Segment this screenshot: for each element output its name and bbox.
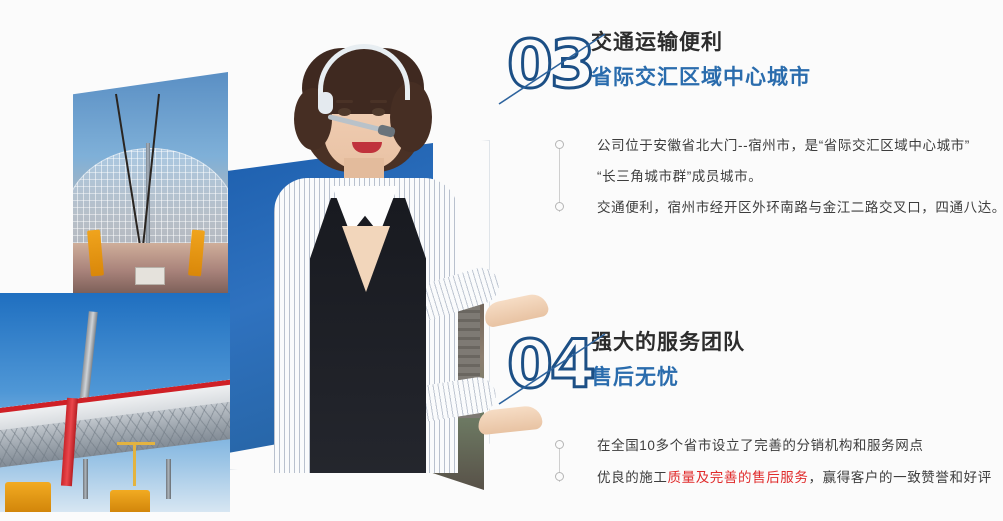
- headset-earpiece-icon: [318, 92, 333, 114]
- bullet-text-line2: “长三角城市群”成员城市。: [587, 161, 1003, 192]
- image-collage: [0, 0, 500, 521]
- feature-block-04: 04 强大的服务团队 售后无忧 在全国10多个省市设立了完善的分销机构和服务网点: [505, 326, 1003, 494]
- eye: [338, 108, 351, 116]
- feature-number-wrap-03: 03: [505, 26, 591, 112]
- bullet-text-highlight: 质量及完善的售后服务: [668, 470, 809, 485]
- feature-bullets-04: 在全国10多个省市设立了完善的分销机构和服务网点 优良的施工质量及完善的售后服务…: [505, 430, 1003, 494]
- feature-heading-03: 03 交通运输便利 省际交汇区域中心城市: [505, 26, 1003, 112]
- site-shed: [135, 267, 165, 285]
- customer-service-agent-photo: [232, 30, 500, 495]
- eye: [372, 108, 385, 116]
- bullet-text: 在全国10多个省市设立了完善的分销机构和服务网点: [587, 430, 1003, 461]
- feature-bullets-03: 公司位于安徽省北大门--宿州市，是“省际交汇区域中心城市” “长三角城市群”成员…: [505, 130, 1003, 224]
- bullet-circle-icon: [555, 472, 564, 481]
- feature-subtitle-04: 售后无忧: [591, 362, 745, 394]
- bullet-text: 优良的施工质量及完善的售后服务，赢得客户的一致赞誉和好评: [587, 462, 1003, 493]
- feature-block-03: 03 交通运输便利 省际交汇区域中心城市 公司位于安徽省北大门--宿州市，是“省…: [505, 26, 1003, 224]
- yellow-crane: [110, 490, 150, 512]
- support-leg: [166, 459, 171, 499]
- space-frame-dome-construction-photo: [73, 72, 228, 294]
- list-item: 在全国10多个省市设立了完善的分销机构和服务网点: [555, 430, 1003, 462]
- feature-number-04: 04: [507, 328, 593, 402]
- feature-title-04: 强大的服务团队: [591, 328, 745, 358]
- feature-title-03: 交通运输便利: [591, 28, 811, 58]
- list-item: 优良的施工质量及完善的售后服务，赢得客户的一致赞誉和好评: [555, 462, 1003, 494]
- list-item: 公司位于安徽省北大门--宿州市，是“省际交汇区域中心城市” “长三角城市群”成员…: [555, 130, 1003, 192]
- eyebrow: [370, 100, 387, 103]
- tower-crane: [133, 442, 136, 486]
- bullet-text: 公司位于安徽省北大门--宿州市，是“省际交汇区域中心城市”: [587, 130, 1003, 161]
- feature-heading-text-03: 交通运输便利 省际交汇区域中心城市: [591, 26, 811, 94]
- bullet-text-part: 优良的施工: [597, 470, 668, 485]
- red-canopy-steel-structure-photo: [0, 293, 230, 512]
- bullet-circle-icon: [555, 440, 564, 449]
- yellow-crane: [5, 482, 51, 512]
- bullet-circle-icon: [555, 140, 564, 149]
- content-column: 03 交通运输便利 省际交汇区域中心城市 公司位于安徽省北大门--宿州市，是“省…: [505, 0, 1003, 521]
- bullet-text: 交通便利，宿州市经开区外环南路与金江二路交叉口，四通八达。: [587, 192, 1003, 223]
- steel-truss-mesh: [0, 401, 230, 468]
- list-item: 交通便利，宿州市经开区外环南路与金江二路交叉口，四通八达。: [555, 192, 1003, 224]
- feature-subtitle-03: 省际交汇区域中心城市: [591, 62, 811, 94]
- feature-heading-04: 04 强大的服务团队 售后无忧: [505, 326, 1003, 412]
- eyebrow: [336, 100, 353, 103]
- bullet-circle-icon: [555, 202, 564, 211]
- canopy-roof: [0, 379, 230, 468]
- bullet-text-part: ，赢得客户的一致赞誉和好评: [809, 470, 992, 485]
- support-leg: [83, 459, 88, 499]
- feature-number-03: 03: [507, 28, 593, 102]
- feature-heading-text-04: 强大的服务团队 售后无忧: [591, 326, 745, 394]
- promo-page: 03 交通运输便利 省际交汇区域中心城市 公司位于安徽省北大门--宿州市，是“省…: [0, 0, 1003, 521]
- feature-number-wrap-04: 04: [505, 326, 591, 412]
